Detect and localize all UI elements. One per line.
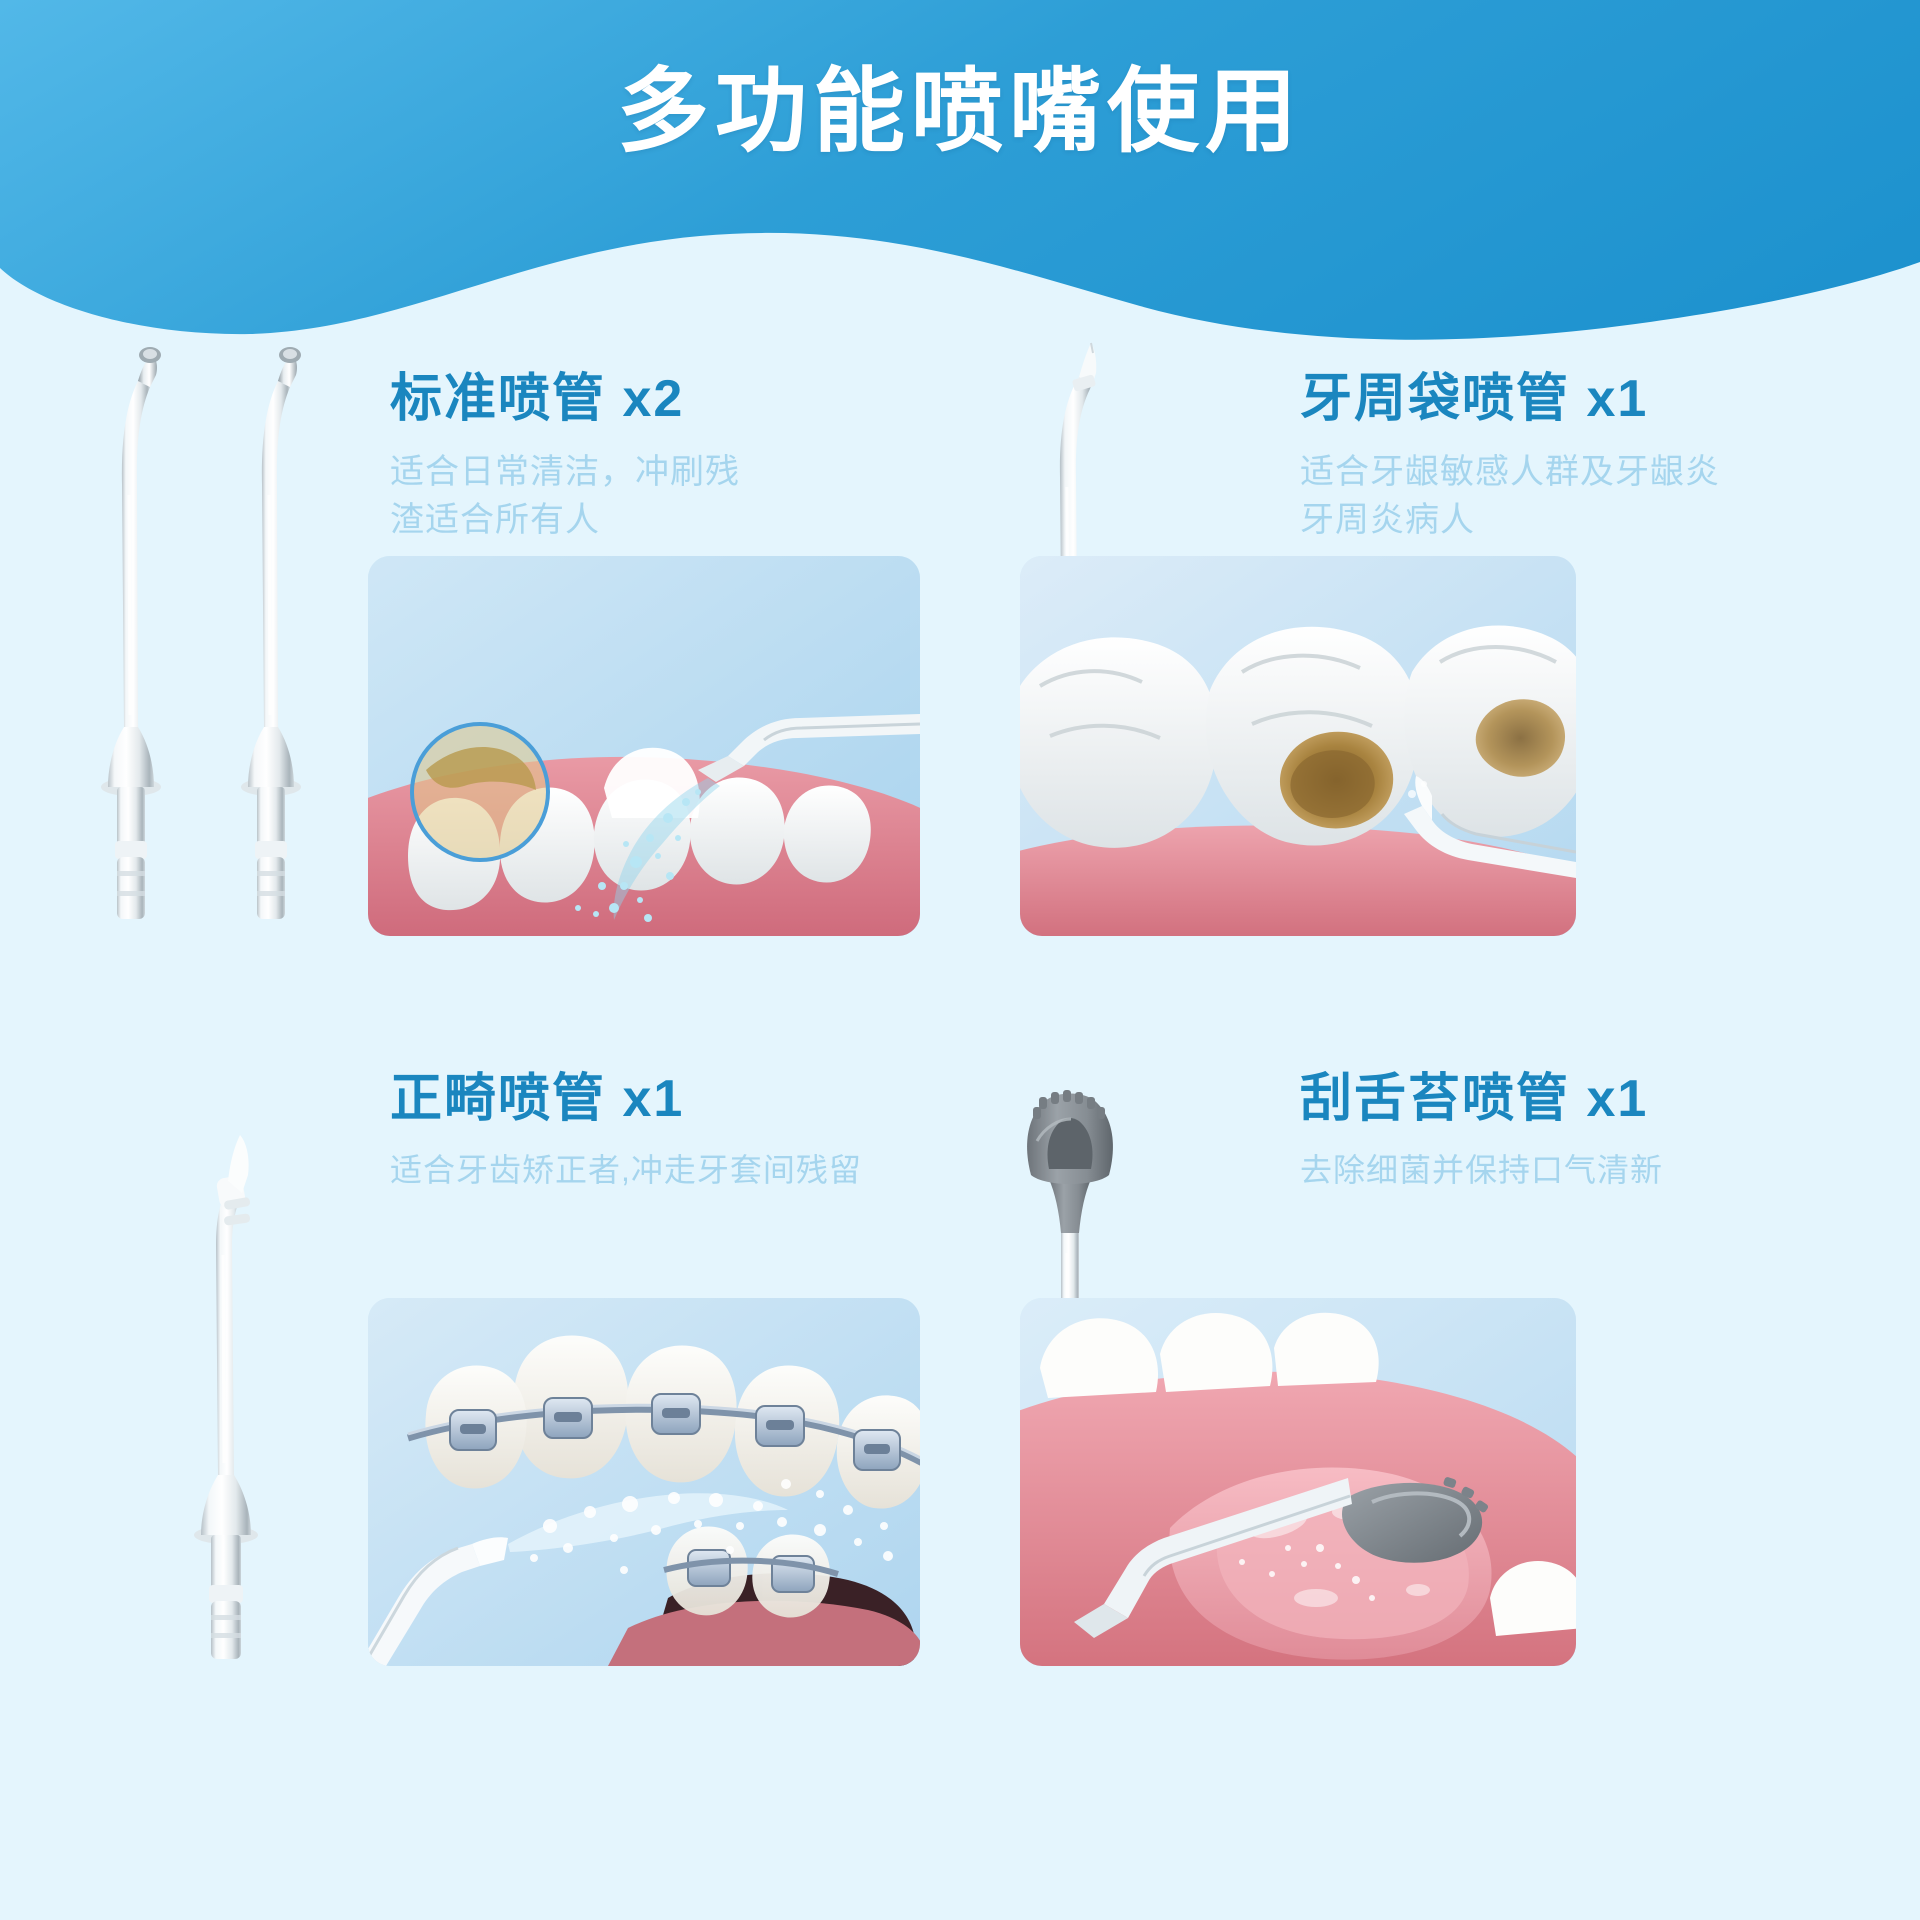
nozzle-card-grid: 标准喷管 x2 适合日常清洁，冲刷残 渣适合所有人 <box>0 360 1920 1920</box>
card-description: 适合日常清洁，冲刷残 渣适合所有人 <box>390 448 920 545</box>
description-line: 渣适合所有人 <box>390 496 920 544</box>
braces-flush-photo[interactable] <box>368 1298 920 1666</box>
card-title: 正畸喷管 x1 <box>390 1070 920 1130</box>
orthodontic-nozzle-group <box>90 1060 380 1750</box>
description-line: 适合日常清洁，冲刷残 <box>390 448 920 496</box>
orthodontic-nozzle-text: 正畸喷管 x1 适合牙齿矫正者,冲走牙套间残留 <box>390 1070 920 1193</box>
standard-nozzle-icon <box>100 335 162 935</box>
standard-nozzle-icon <box>240 335 302 935</box>
description-line: 适合牙齿矫正者,冲走牙套间残留 <box>390 1148 920 1193</box>
card-periodontal-pocket-nozzle[interactable]: 牙周袋喷管 x1 适合牙龈敏感人群及牙龈炎 牙周炎病人 <box>1010 360 1840 1050</box>
card-title: 标准喷管 x2 <box>390 370 920 430</box>
page-title: 多功能喷嘴使用 <box>0 62 1920 163</box>
standard-nozzle-text: 标准喷管 x2 适合日常清洁，冲刷残 渣适合所有人 <box>390 370 920 544</box>
card-title: 刮舌苔喷管 x1 <box>1300 1070 1830 1130</box>
card-description: 适合牙龈敏感人群及牙龈炎 牙周炎病人 <box>1300 448 1830 545</box>
tongue-scraping-photo[interactable] <box>1020 1298 1576 1666</box>
tooth-plaque-flush-photo[interactable] <box>368 556 920 936</box>
page-header: 多功能喷嘴使用 <box>0 0 1920 360</box>
molar-decay-cleaning-photo[interactable] <box>1020 556 1576 936</box>
standard-nozzle-group <box>90 360 380 1050</box>
description-line: 适合牙龈敏感人群及牙龈炎 <box>1300 448 1830 496</box>
description-line: 去除细菌并保持口气清新 <box>1300 1148 1830 1193</box>
card-title: 牙周袋喷管 x1 <box>1300 370 1830 430</box>
tongue-scraper-nozzle-text: 刮舌苔喷管 x1 去除细菌并保持口气清新 <box>1300 1070 1830 1193</box>
orthodontic-nozzle-icon <box>190 1115 262 1675</box>
card-standard-nozzle[interactable]: 标准喷管 x2 适合日常清洁，冲刷残 渣适合所有人 <box>90 360 920 1050</box>
periodontal-nozzle-text: 牙周袋喷管 x1 适合牙龈敏感人群及牙龈炎 牙周炎病人 <box>1300 370 1830 544</box>
card-description: 适合牙齿矫正者,冲走牙套间残留 <box>390 1148 920 1193</box>
description-line: 牙周炎病人 <box>1300 496 1830 544</box>
card-orthodontic-nozzle[interactable]: 正畸喷管 x1 适合牙齿矫正者,冲走牙套间残留 <box>90 1060 920 1750</box>
card-description: 去除细菌并保持口气清新 <box>1300 1148 1830 1193</box>
product-feature-page: 多功能喷嘴使用 <box>0 0 1920 1920</box>
card-tongue-scraper-nozzle[interactable]: 刮舌苔喷管 x1 去除细菌并保持口气清新 <box>1010 1060 1840 1750</box>
